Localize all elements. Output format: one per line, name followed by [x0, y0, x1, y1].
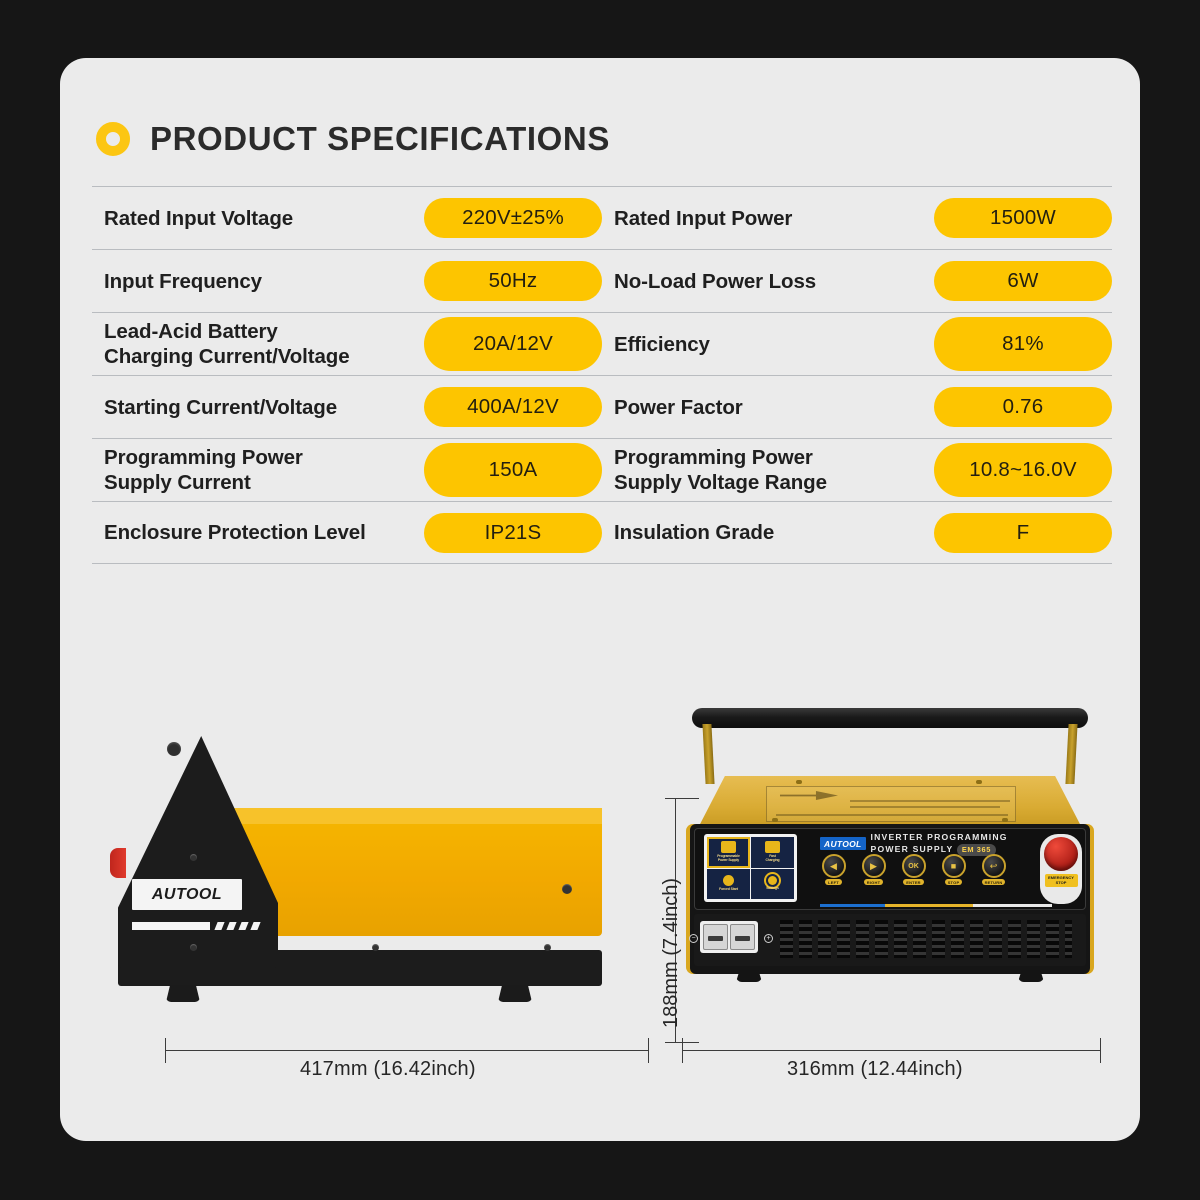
spec-value-pill: 0.76: [934, 387, 1112, 427]
product-illustrations: AUTOOL 417mm (16.42inch): [60, 698, 1140, 1118]
engine-start-icon: [723, 875, 734, 886]
button-left[interactable]: ◀ LEFT: [820, 854, 847, 885]
ok-icon: OK: [902, 854, 926, 878]
screw-icon: [372, 944, 379, 951]
output-terminals[interactable]: [700, 921, 758, 953]
table-row: Programming PowerSupply Current 150A Pro…: [92, 438, 1112, 501]
page-root: PRODUCT SPECIFICATIONS Rated Input Volta…: [0, 0, 1200, 1200]
emergency-stop-button[interactable]: EMERGENCYSTOP: [1040, 834, 1082, 904]
side-width-dimension-label: 417mm (16.42inch): [300, 1058, 476, 1081]
spec-label: Enclosure Protection Level: [92, 520, 424, 545]
lcd-tile-fast-charging[interactable]: FastCharging: [751, 837, 794, 868]
screw-icon: [1002, 818, 1008, 822]
side-width-dimension-line: [165, 1050, 648, 1051]
rubber-foot-icon: [166, 985, 200, 1002]
lcd-tile-label: Settings: [766, 887, 779, 891]
plate-line: [850, 806, 1000, 808]
spec-cell-left: Input Frequency 50Hz: [92, 261, 602, 301]
table-row: Starting Current/Voltage 400A/12V Power …: [92, 375, 1112, 438]
spec-value-pill: 50Hz: [424, 261, 602, 301]
lcd-tile-forced-start[interactable]: Forced Start: [707, 869, 750, 900]
rubber-foot-icon: [736, 970, 762, 982]
spec-cell-right: Power Factor 0.76: [602, 387, 1112, 427]
spec-value-pill: IP21S: [424, 513, 602, 553]
product-name-line2: POWER SUPPLY: [871, 844, 954, 854]
dimension-tick: [665, 1042, 699, 1043]
button-label: ENTER: [903, 879, 924, 885]
spec-label: Input Frequency: [92, 269, 424, 294]
control-buttons: ◀ LEFT ▶ RIGHT OK ENTER: [820, 854, 1007, 885]
button-label: LEFT: [825, 879, 842, 885]
return-arrow-icon: ↩: [982, 854, 1006, 878]
handle-leg: [1065, 724, 1077, 784]
side-view-top-knob-icon: [167, 742, 181, 756]
spec-label: Lead-Acid BatteryCharging Current/Voltag…: [92, 319, 424, 369]
spec-cell-right: Rated Input Power 1500W: [602, 198, 1112, 238]
carry-handle: [692, 708, 1088, 728]
spec-cell-left: Rated Input Voltage 220V±25%: [92, 198, 602, 238]
emergency-stop-icon: [110, 848, 126, 878]
spec-label: Programming PowerSupply Current: [92, 445, 424, 495]
product-front-view: ProgrammablePower Supply FastCharging Fo…: [680, 708, 1100, 988]
front-width-dimension-line: [682, 1050, 1100, 1051]
product-side-view: AUTOOL: [110, 736, 610, 986]
spec-value-pill: 81%: [934, 317, 1112, 371]
autool-logo-text: AUTOOL: [152, 886, 222, 904]
gear-icon: [768, 876, 777, 885]
screw-icon: [772, 818, 778, 822]
spec-cell-right: Insulation Grade F: [602, 513, 1112, 553]
emergency-stop-label: EMERGENCYSTOP: [1045, 874, 1078, 887]
side-view-yellow-shell: [230, 808, 602, 936]
plate-line: [850, 800, 1010, 802]
front-height-dimension-label: 188mm (7.4inch): [660, 878, 683, 1028]
table-row: Enclosure Protection Level IP21S Insulat…: [92, 501, 1112, 564]
spec-label: Rated Input Power: [602, 206, 934, 231]
product-name: INVERTER PROGRAMMING POWER SUPPLY EM 365: [871, 832, 1008, 856]
stop-square-icon: ■: [942, 854, 966, 878]
table-row: Input Frequency 50Hz No-Load Power Loss …: [92, 249, 1112, 312]
spec-value-pill: 220V±25%: [424, 198, 602, 238]
spec-label: Starting Current/Voltage: [92, 395, 424, 420]
terminal-negative-sign: −: [689, 934, 698, 943]
button-stop[interactable]: ■ STOP: [940, 854, 967, 885]
rubber-foot-icon: [498, 985, 532, 1002]
table-row: Lead-Acid BatteryCharging Current/Voltag…: [92, 312, 1112, 375]
specifications-table: Rated Input Voltage 220V±25% Rated Input…: [92, 186, 1112, 564]
spec-cell-left: Lead-Acid BatteryCharging Current/Voltag…: [92, 317, 602, 371]
spec-value-pill: 400A/12V: [424, 387, 602, 427]
screw-icon: [190, 854, 197, 861]
plate-line: [776, 814, 1008, 816]
spec-value-pill: 150A: [424, 443, 602, 497]
button-return[interactable]: ↩ RETURN: [980, 854, 1007, 885]
button-right[interactable]: ▶ RIGHT: [860, 854, 887, 885]
accent-stripe: [820, 904, 1052, 907]
button-enter[interactable]: OK ENTER: [900, 854, 927, 885]
spec-label: Insulation Grade: [602, 520, 934, 545]
button-label: RIGHT: [864, 879, 883, 885]
spec-card: PRODUCT SPECIFICATIONS Rated Input Volta…: [60, 58, 1140, 1141]
ring-icon: [96, 122, 130, 156]
terminal-positive-sign: +: [764, 934, 773, 943]
dimension-tick: [1100, 1038, 1101, 1063]
lcd-tile-label: Forced Start: [719, 888, 738, 892]
brand-block: AUTOOL INVERTER PROGRAMMING POWER SUPPLY…: [820, 832, 1008, 856]
screw-icon: [976, 780, 982, 784]
autool-logo: AUTOOL: [132, 879, 242, 910]
monitor-icon: [721, 841, 736, 853]
lcd-screen[interactable]: ProgrammablePower Supply FastCharging Fo…: [704, 834, 797, 902]
decal-stripe: [132, 922, 210, 930]
page-title-text: PRODUCT SPECIFICATIONS: [150, 120, 610, 158]
spec-label: No-Load Power Loss: [602, 269, 934, 294]
dimension-tick: [165, 1038, 166, 1063]
table-row: Rated Input Voltage 220V±25% Rated Input…: [92, 186, 1112, 249]
spec-value-pill: 1500W: [934, 198, 1112, 238]
spec-label: Programming PowerSupply Voltage Range: [602, 445, 934, 495]
terminal-negative-icon: [703, 924, 728, 950]
spec-label: Rated Input Voltage: [92, 206, 424, 231]
spec-cell-right: Programming PowerSupply Voltage Range 10…: [602, 443, 1112, 497]
dimension-tick: [648, 1038, 649, 1063]
page-title: PRODUCT SPECIFICATIONS: [96, 120, 610, 158]
front-width-dimension-label: 316mm (12.44inch): [787, 1058, 963, 1081]
right-arrow-icon: ▶: [862, 854, 886, 878]
button-label: RETURN: [982, 879, 1006, 885]
rubber-foot-icon: [1018, 970, 1044, 982]
ventilation-grille: [780, 920, 1072, 958]
screw-icon: [562, 884, 572, 894]
screw-icon: [190, 944, 197, 951]
spec-label: Efficiency: [602, 332, 934, 357]
emergency-stop-cap-icon: [1044, 837, 1078, 871]
spec-cell-right: Efficiency 81%: [602, 317, 1112, 371]
screw-icon: [796, 780, 802, 784]
spec-value-pill: F: [934, 513, 1112, 553]
dimension-tick: [665, 798, 699, 799]
handle-leg: [702, 724, 714, 784]
spec-label: Power Factor: [602, 395, 934, 420]
spec-cell-left: Programming PowerSupply Current 150A: [92, 443, 602, 497]
spec-plate-icon: [766, 786, 1016, 822]
spec-value-pill: 6W: [934, 261, 1112, 301]
product-name-line1: INVERTER PROGRAMMING: [871, 832, 1008, 842]
battery-icon: [765, 841, 780, 853]
spec-cell-right: No-Load Power Loss 6W: [602, 261, 1112, 301]
lcd-tile-label: ProgrammablePower Supply: [717, 855, 740, 863]
spec-value-pill: 20A/12V: [424, 317, 602, 371]
lcd-tile-settings[interactable]: Settings: [751, 869, 794, 900]
spec-cell-left: Starting Current/Voltage 400A/12V: [92, 387, 602, 427]
terminal-positive-icon: [730, 924, 755, 950]
spec-cell-left: Enclosure Protection Level IP21S: [92, 513, 602, 553]
left-arrow-icon: ◀: [822, 854, 846, 878]
lcd-tile-label: FastCharging: [765, 855, 779, 863]
screw-icon: [544, 944, 551, 951]
lcd-tile-programmable-power-supply[interactable]: ProgrammablePower Supply: [707, 837, 750, 868]
button-label: STOP: [945, 879, 963, 885]
autool-badge: AUTOOL: [820, 837, 866, 850]
spec-value-pill: 10.8~16.0V: [934, 443, 1112, 497]
